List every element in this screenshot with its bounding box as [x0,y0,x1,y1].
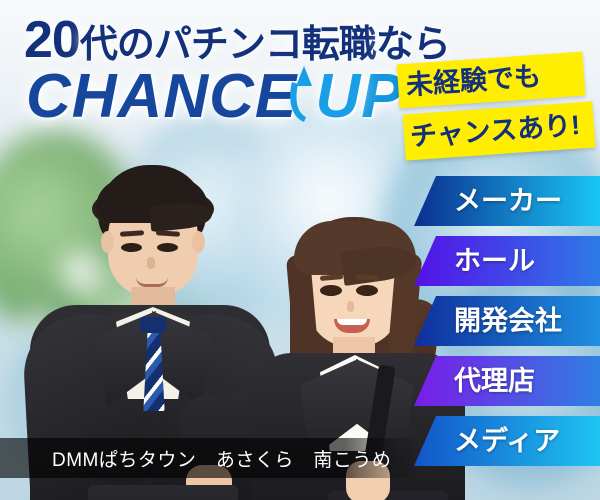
status-badge: 未経験でも チャンスあり! [398,56,594,160]
logo-chance-text: CHANCE [26,62,297,131]
category-list: メーカー ホール 開発会社 代理店 メディア [414,176,600,476]
category-button-developer[interactable]: 開発会社 [414,296,600,346]
category-button-media[interactable]: メディア [414,416,600,466]
category-label: 代理店 [454,368,535,395]
category-button-agency[interactable]: 代理店 [414,356,600,406]
badge-line-2-text: チャンスあり! [409,112,581,151]
banner-advertisement[interactable]: 20代のパチンコ転職なら CHANCE UP 未経験でも チャンスあり! メーカ… [0,0,600,500]
caption-text: DMMぱちタウン あさくら 南こうめ [0,445,391,472]
category-button-maker[interactable]: メーカー [414,176,600,226]
headline-number: 20 [24,11,80,69]
badge-line-2: チャンスあり! [403,101,596,160]
logo-u-letter: U [315,62,361,131]
category-label: メーカー [454,188,562,215]
category-label: ホール [454,248,535,275]
caption-bar: DMMぱちタウン あさくら 南こうめ [0,438,420,478]
category-label: メディア [454,428,560,455]
badge-line-1: 未経験でも [397,52,586,109]
chance-up-logo: CHANCE UP [26,66,404,128]
headline-rest: 代のパチンコ転職 [80,24,376,66]
category-label: 開発会社 [454,308,562,335]
badge-line-1-text: 未経験でも [405,63,542,99]
headline-text: 20代のパチンコ転職なら [24,14,450,66]
category-button-hall[interactable]: ホール [414,236,600,286]
